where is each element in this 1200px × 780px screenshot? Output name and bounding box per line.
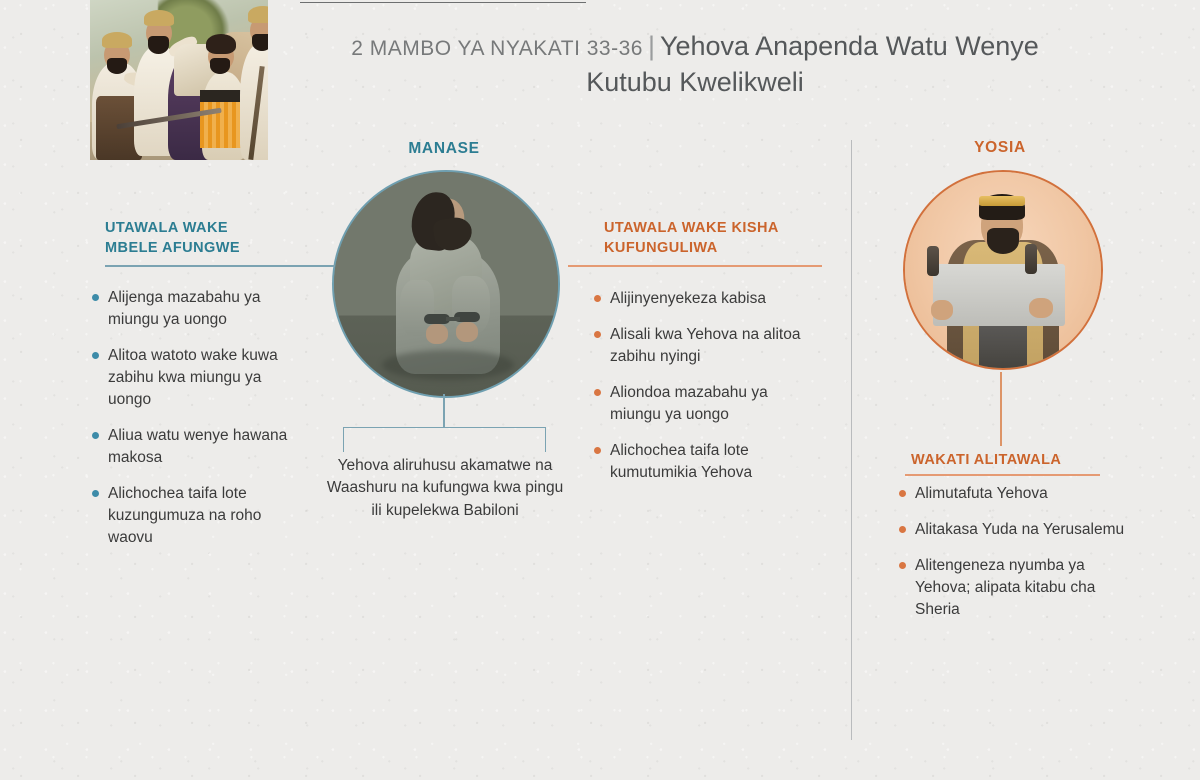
connector-stem-manase-caption (443, 394, 445, 428)
page-title-line2: Kutubu Kwelikweli (300, 64, 1090, 100)
list-item: Alitakasa Yuda na Yerusalemu (897, 519, 1142, 541)
figure-name-yosia: YOSIA (900, 139, 1100, 157)
top-horizontal-rule (300, 2, 586, 3)
list-item: Alitoa watoto wake kuwa zabihu kwa miung… (90, 345, 305, 411)
portrait-manase-in-chains (332, 170, 560, 398)
list-after-release: Alijinyenyekeza kabisa Alisali kwa Yehov… (592, 288, 807, 498)
manase-hand-left (426, 324, 448, 344)
list-item: Alimutafuta Yehova (897, 483, 1142, 505)
manase-hand-right (456, 322, 478, 342)
list-before-imprisonment: Alijenga mazabahu ya miungu ya uongo Ali… (90, 287, 305, 563)
list-item: Alitengeneza nyumba ya Yehova; alipata k… (897, 555, 1142, 621)
list-item: Alijinyenyekeza kabisa (592, 288, 807, 310)
heading-before-line2: MBELE AFUNGWE (105, 240, 240, 256)
page-title-line1: Yehova Anapenda Watu Wenye (660, 31, 1039, 61)
list-item: Aliua watu wenye hawana makosa (90, 425, 305, 469)
scroll-knob-right (1025, 244, 1037, 274)
connector-line-manase-right (568, 265, 822, 267)
manase-chain (446, 317, 460, 321)
yosia-undergarment (979, 322, 1027, 368)
heading-after-line2: KUFUNGULIWA (604, 240, 718, 256)
scripture-reference: 2 MAMBO YA NYAKATI 33-36 (351, 37, 643, 60)
heading-after-line1: UTAWALA WAKE KISHA (604, 220, 779, 236)
heading-before-line1: UTAWALA WAKE (105, 220, 228, 236)
yosia-crown (979, 196, 1025, 206)
list-item: Alichochea taifa lote kumutumikia Yehova (592, 440, 807, 484)
list-item: Aliondoa mazabahu ya miungu ya uongo (592, 382, 807, 426)
connector-underline-yosia (905, 474, 1100, 476)
manase-caption: Yehova aliruhusu akamatwe na Waashuru na… (325, 455, 565, 522)
page-title: 2 MAMBO YA NYAKATI 33-36|Yehova Anapenda… (300, 28, 1090, 100)
portrait-yosia-reading-scroll (903, 170, 1103, 370)
manase-floor-shadow (382, 350, 514, 380)
heading-reign-line1: WAKATI ALITAWALA (911, 452, 1061, 468)
hero-illustration-capture-of-manasseh (90, 0, 268, 160)
title-separator: | (643, 31, 660, 61)
page-title-block: 2 MAMBO YA NYAKATI 33-36|Yehova Anapenda… (300, 28, 1090, 100)
connector-bracket-manase-caption (343, 427, 546, 452)
yosia-beard (987, 228, 1019, 254)
list-item: Alichochea taifa lote kuzungumuza na roh… (90, 483, 305, 549)
connector-stem-yosia (1000, 372, 1002, 446)
list-item: Alijenga mazabahu ya miungu ya uongo (90, 287, 305, 331)
connector-line-manase-left (105, 265, 335, 267)
column-heading-before-imprisonment: UTAWALA WAKE MBELE AFUNGWE (105, 219, 335, 258)
column-heading-after-release: UTAWALA WAKE KISHA KUFUNGULIWA (604, 219, 854, 258)
list-item: Alisali kwa Yehova na alitoa zabihu nyin… (592, 324, 807, 368)
figure-name-manase: MANASE (345, 140, 543, 158)
yosia-hand-right (1029, 298, 1053, 318)
list-yosia-reign: Alimutafuta Yehova Alitakasa Yuda na Yer… (897, 483, 1142, 635)
yosia-hand-left (931, 300, 953, 320)
column-heading-yosia-reign: WAKATI ALITAWALA (911, 451, 1111, 471)
scroll-knob-left (927, 246, 939, 276)
